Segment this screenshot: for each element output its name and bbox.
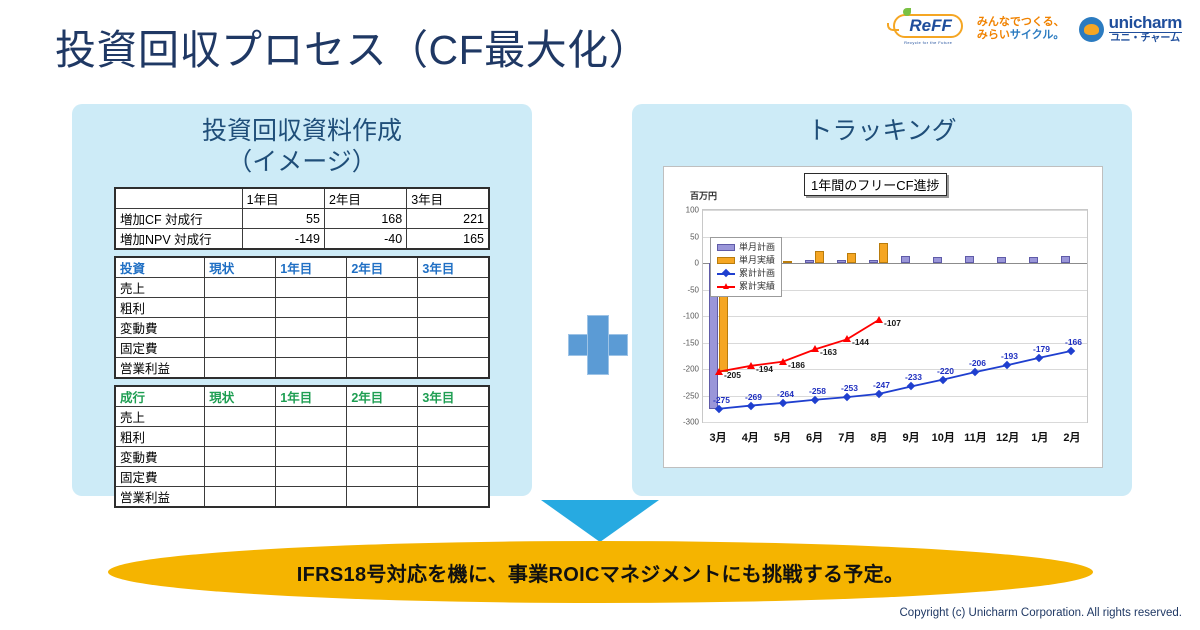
chart-data-label: -206 [969, 358, 986, 368]
column-header: 2年目 [347, 386, 418, 407]
column-header: 投資 [115, 257, 205, 278]
column-header [115, 188, 242, 209]
baseline-table: 成行現状1年目2年目3年目 売上粗利変動費固定費営業利益 [114, 385, 490, 508]
chart-x-tick: 7月 [831, 429, 863, 445]
row-label: 増加NPV 対成行 [115, 229, 242, 250]
chart-x-tick: 12月 [992, 429, 1024, 445]
plus-icon [564, 310, 632, 378]
table-cell[interactable] [205, 318, 276, 338]
chart-data-label: -233 [905, 372, 922, 382]
table-cell: 221 [407, 209, 489, 229]
legend-swatch [717, 244, 735, 251]
table-cell[interactable] [418, 467, 489, 487]
column-header: 2年目 [324, 188, 406, 209]
table-cell[interactable] [205, 278, 276, 298]
chart-y-tick: 50 [690, 232, 699, 241]
table-cell[interactable] [347, 338, 418, 358]
chart-x-tick: 8月 [863, 429, 895, 445]
row-label: 変動費 [115, 318, 205, 338]
chart-data-label: -144 [852, 337, 869, 347]
table-row: 粗利 [115, 298, 489, 318]
chart-legend: 単月計画単月実績累計計画累計実績 [710, 237, 782, 297]
chart-x-tick: 10月 [927, 429, 959, 445]
chart-data-label: -166 [1065, 337, 1082, 347]
chart-data-point [779, 358, 787, 365]
column-header: 3年目 [407, 188, 489, 209]
chart-data-point [715, 368, 723, 375]
column-header: 1年目 [276, 257, 347, 278]
row-label: 変動費 [115, 447, 205, 467]
chart-x-tick: 6月 [799, 429, 831, 445]
column-header: 1年目 [276, 386, 347, 407]
table-cell[interactable] [418, 278, 489, 298]
chart-data-label: -205 [724, 370, 741, 380]
table-cell[interactable] [276, 427, 347, 447]
table-cell: -40 [324, 229, 406, 250]
table-row: 増加NPV 対成行-149-40165 [115, 229, 489, 250]
chart-data-point [811, 345, 819, 352]
table-row: 営業利益 [115, 487, 489, 508]
table-cell[interactable] [276, 298, 347, 318]
chart-x-axis: 3月4月5月6月7月8月9月10月11月12月1月2月 [702, 429, 1088, 445]
table-cell[interactable] [276, 358, 347, 379]
chart-data-label: -193 [1001, 351, 1018, 361]
legend-swatch [717, 270, 735, 277]
chart-data-label: -186 [788, 360, 805, 370]
left-panel-heading: 投資回収資料作成 （イメージ） [72, 104, 532, 177]
chart-data-point [747, 362, 755, 369]
chart-data-point [843, 335, 851, 342]
chart-x-tick: 5月 [766, 429, 798, 445]
summary-banner: IFRS18号対応を機に、事業ROICマネジメントにも挑戦する予定。 [108, 541, 1093, 603]
table-row: 粗利 [115, 427, 489, 447]
legend-item: 累計実績 [717, 280, 775, 293]
chart-data-label: -194 [756, 364, 773, 374]
chart-data-label: -258 [809, 386, 826, 396]
chart-x-tick: 4月 [734, 429, 766, 445]
table-cell[interactable] [418, 338, 489, 358]
chart-data-label: -264 [777, 389, 794, 399]
table-cell[interactable] [205, 487, 276, 508]
chart-data-point [875, 316, 883, 323]
reff-logo-sub: Recycle for the Future [904, 40, 952, 45]
table-cell[interactable] [347, 318, 418, 338]
table-cell[interactable] [276, 338, 347, 358]
table-cell: -149 [242, 229, 324, 250]
chart-y-unit: 百万円 [690, 189, 717, 202]
legend-item: 単月計画 [717, 241, 775, 254]
table-row: 営業利益 [115, 358, 489, 379]
row-label: 売上 [115, 278, 205, 298]
row-label: 売上 [115, 407, 205, 427]
table-cell[interactable] [418, 298, 489, 318]
table-cell[interactable] [347, 467, 418, 487]
table-cell[interactable] [347, 427, 418, 447]
table-row: 変動費 [115, 447, 489, 467]
chart-y-tick: -150 [683, 338, 699, 347]
table-cell[interactable] [205, 467, 276, 487]
chart-title: 1年間のフリーCF進捗 [804, 173, 947, 196]
reff-logo: ReFF Recycle for the Future [893, 14, 963, 45]
chart-x-tick: 9月 [895, 429, 927, 445]
table-row: 売上 [115, 407, 489, 427]
chart-y-tick: -100 [683, 312, 699, 321]
unicharm-logo-name: unicharm [1109, 14, 1182, 32]
table-row: 売上 [115, 278, 489, 298]
page-title: 投資回収プロセス（CF最大化） [55, 16, 650, 76]
chart-y-tick: 0 [695, 259, 699, 268]
right-panel-heading: トラッキング [632, 104, 1132, 147]
table-cell: 165 [407, 229, 489, 250]
table-cell: 55 [242, 209, 324, 229]
table-row: 固定費 [115, 338, 489, 358]
table-row: 固定費 [115, 467, 489, 487]
table-cell[interactable] [347, 278, 418, 298]
legend-label: 累計実績 [739, 280, 775, 293]
column-header: 現状 [205, 257, 276, 278]
left-panel-heading-line2: （イメージ） [72, 147, 532, 178]
reff-logo-name: ReFF [893, 14, 963, 38]
chart-y-tick: -250 [683, 391, 699, 400]
chart-x-tick: 1月 [1024, 429, 1056, 445]
row-label: 固定費 [115, 467, 205, 487]
table-cell[interactable] [205, 338, 276, 358]
tagline-line2a: みらい [977, 29, 1010, 41]
tables-wrap: 1年目2年目3年目 増加CF 対成行55168221増加NPV 対成行-149-… [114, 187, 490, 508]
table-header-row: 投資現状1年目2年目3年目 [115, 257, 489, 278]
table-cell[interactable] [418, 358, 489, 379]
chart-data-label: -253 [841, 383, 858, 393]
chart-data-label: -107 [884, 318, 901, 328]
table-cell[interactable] [347, 407, 418, 427]
row-label: 営業利益 [115, 487, 205, 508]
chart-y-tick: -50 [687, 285, 699, 294]
column-header: 成行 [115, 386, 205, 407]
table-cell[interactable] [418, 447, 489, 467]
table-cell[interactable] [276, 407, 347, 427]
table-cell[interactable] [276, 487, 347, 508]
legend-item: 単月実績 [717, 254, 775, 267]
summary-banner-text: IFRS18号対応を機に、事業ROICマネジメントにも挑戦する予定。 [297, 558, 904, 587]
legend-label: 単月計画 [739, 241, 775, 254]
chart-y-tick: -300 [683, 418, 699, 427]
table-cell: 168 [324, 209, 406, 229]
table-cell[interactable] [205, 298, 276, 318]
chart-x-tick: 3月 [702, 429, 734, 445]
row-label: 粗利 [115, 427, 205, 447]
table-row: 増加CF 対成行55168221 [115, 209, 489, 229]
table-cell[interactable] [347, 447, 418, 467]
logo-bar: ReFF Recycle for the Future みんなでつくる、 みらい… [893, 14, 1182, 45]
chart-x-tick: 2月 [1056, 429, 1088, 445]
column-header: 1年目 [242, 188, 324, 209]
row-label: 固定費 [115, 338, 205, 358]
table-cell[interactable] [276, 318, 347, 338]
chart-data-label: -179 [1033, 344, 1050, 354]
chart-x-tick: 11月 [959, 429, 991, 445]
chart-y-tick: 100 [686, 206, 699, 215]
copyright-text: Copyright (c) Unicharm Corporation. All … [900, 607, 1183, 619]
table-cell[interactable] [418, 407, 489, 427]
table-cell[interactable] [347, 487, 418, 508]
table-cell[interactable] [418, 487, 489, 508]
table-cell[interactable] [347, 298, 418, 318]
legend-item: 累計計画 [717, 267, 775, 280]
column-header: 2年目 [347, 257, 418, 278]
column-header: 現状 [205, 386, 276, 407]
table-header-row: 成行現状1年目2年目3年目 [115, 386, 489, 407]
left-panel-heading-line1: 投資回収資料作成 [72, 116, 532, 147]
table-cell[interactable] [205, 427, 276, 447]
chart-data-label: -163 [820, 347, 837, 357]
legend-swatch [717, 283, 735, 290]
legend-label: 単月実績 [739, 254, 775, 267]
table-cell[interactable] [276, 467, 347, 487]
chart-data-label: -220 [937, 366, 954, 376]
table-cell[interactable] [205, 358, 276, 379]
table-cell[interactable] [276, 447, 347, 467]
table-cell[interactable] [347, 358, 418, 379]
chart-data-label: -269 [745, 392, 762, 402]
row-label: 増加CF 対成行 [115, 209, 242, 229]
unicharm-logo-kana: ユニ・チャーム [1109, 32, 1182, 45]
table-header-row: 1年目2年目3年目 [115, 188, 489, 209]
column-header: 3年目 [418, 386, 489, 407]
tagline-line1: みんなでつくる、 [977, 16, 1065, 30]
chart-data-label: -275 [713, 395, 730, 405]
down-arrow-icon [541, 500, 659, 542]
tagline-logo: みんなでつくる、 みらいサイクル。 [977, 16, 1065, 44]
table-cell[interactable] [205, 447, 276, 467]
tagline-line2b: サイクル。 [1010, 29, 1064, 41]
row-label: 営業利益 [115, 358, 205, 379]
summary-table: 1年目2年目3年目 増加CF 対成行55168221増加NPV 対成行-149-… [114, 187, 490, 250]
legend-label: 累計計画 [739, 267, 775, 280]
chart-data-label: -247 [873, 380, 890, 390]
column-header: 3年目 [418, 257, 489, 278]
unicharm-mark-icon [1079, 17, 1104, 42]
investment-table: 投資現状1年目2年目3年目 売上粗利変動費固定費営業利益 [114, 256, 490, 379]
chart-y-tick: -200 [683, 365, 699, 374]
chart-gridline [703, 422, 1087, 423]
legend-swatch [717, 257, 735, 264]
table-cell[interactable] [276, 278, 347, 298]
row-label: 粗利 [115, 298, 205, 318]
table-cell[interactable] [418, 427, 489, 447]
table-row: 変動費 [115, 318, 489, 338]
unicharm-logo: unicharm ユニ・チャーム [1079, 14, 1182, 44]
table-cell[interactable] [205, 407, 276, 427]
table-cell[interactable] [418, 318, 489, 338]
tracking-chart: 1年間のフリーCF進捗 百万円 100500-50-100-150-200-25… [663, 166, 1103, 468]
